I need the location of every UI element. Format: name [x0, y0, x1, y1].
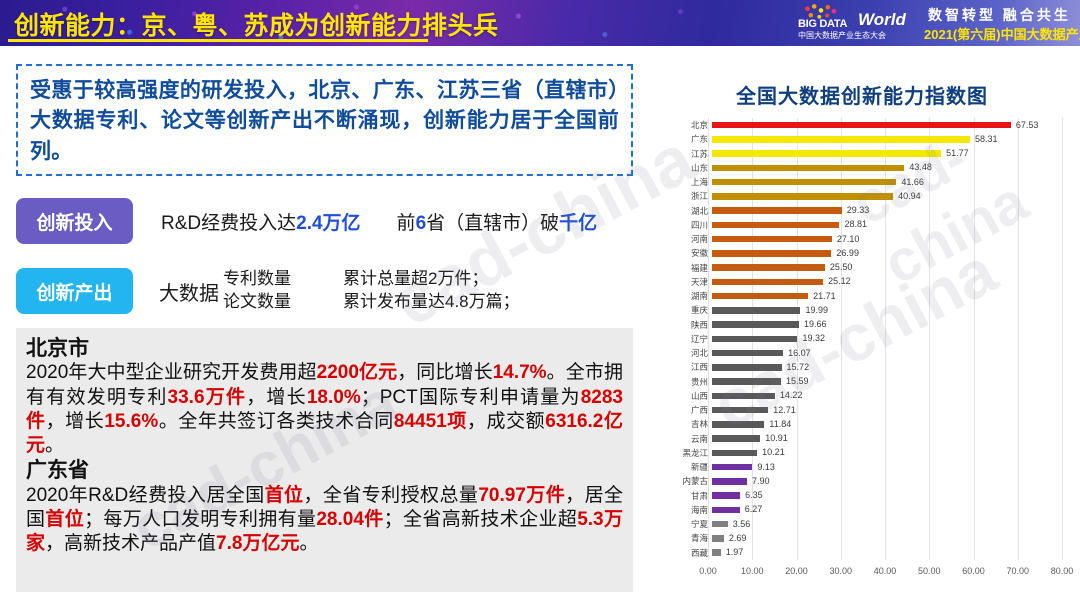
detail-text: ，增长	[46, 411, 105, 432]
app-header: 创新能力：京、粤、苏成为创新能力排头兵 BIG DATA World 中国大数据…	[0, 0, 1080, 46]
chart-bar-value: 15.72	[787, 362, 810, 372]
chart-bar-row: 福建25.50	[672, 261, 1062, 275]
chart-bar-row: 宁夏3.56	[672, 517, 1062, 531]
chart-bar-row: 海南6.27	[672, 503, 1062, 517]
chart-bar	[712, 293, 808, 299]
chart-plot-area: 北京67.53广东58.31江苏51.77山东43.48上海41.66浙江40.…	[672, 118, 1062, 560]
chart-bar	[712, 364, 782, 370]
logo-chinese-text: 中国大数据产业生态大会	[798, 30, 886, 41]
chart-bar	[712, 336, 797, 342]
detail-highlight: 18.0%	[307, 387, 361, 408]
chart-bar-track: 26.99	[712, 246, 1062, 260]
chart-bar	[712, 521, 728, 527]
detail-text: 。全年共签订各类技术合同	[158, 411, 394, 432]
detail-highlight: 28.04件	[316, 509, 383, 530]
chart-category-label: 贵州	[672, 376, 712, 388]
chart-bar-track: 27.10	[712, 232, 1062, 246]
chart-bar	[712, 507, 740, 513]
chart-bar-value: 1.97	[726, 547, 744, 557]
chart-bar-value: 67.53	[1016, 120, 1039, 130]
chart-bar-value: 10.21	[762, 447, 785, 457]
chart-bar-value: 26.99	[836, 248, 859, 258]
chart-category-label: 河北	[672, 347, 712, 359]
chart-x-tick-label: 10.00	[741, 566, 764, 576]
detail-highlight: 2200亿元	[317, 362, 398, 383]
chart-bar-row: 吉林11.84	[672, 417, 1062, 431]
title-underline	[8, 39, 428, 42]
badge-innovation-output: 创新产出	[16, 268, 133, 314]
chart-category-label: 湖北	[672, 205, 712, 217]
chart-category-label: 北京	[672, 119, 712, 131]
chart-bar-row: 浙江40.94	[672, 189, 1062, 203]
detail-text: ，增长	[246, 387, 307, 408]
chart-bar-track: 40.94	[712, 189, 1062, 203]
chart-gridline	[1062, 118, 1063, 560]
chart-bar-row: 山东43.48	[672, 161, 1062, 175]
top-provinces-value: 千亿	[559, 213, 597, 234]
investment-amount-text: R&D经费投入达2.4万亿	[161, 208, 361, 235]
chart-bar-row: 江苏51.77	[672, 147, 1062, 161]
output-value-list: 累计总量超2万件； 累计发布量达4.8万篇；	[343, 268, 520, 314]
chart-bar	[712, 535, 724, 541]
chart-category-label: 天津	[672, 276, 712, 288]
chart-bar	[712, 122, 1011, 128]
chart-x-tick-label: 20.00	[785, 566, 808, 576]
chart-category-label: 西藏	[672, 547, 712, 559]
chart-bar-track: 58.31	[712, 132, 1062, 146]
chart-bar-row: 西藏1.97	[672, 546, 1062, 560]
chart-bar-track: 41.66	[712, 175, 1062, 189]
chart-bar	[712, 207, 842, 213]
detail-highlight: 首位	[45, 509, 84, 530]
chart-category-label: 云南	[672, 433, 712, 445]
chart-bar	[712, 179, 896, 185]
chart-bar-row: 天津25.12	[672, 275, 1062, 289]
chart-x-axis: 0.0010.0020.0030.0040.0050.0060.0070.008…	[708, 560, 1062, 580]
beijing-description: 2020年大中型企业研究开发费用超2200亿元，同比增长14.7%。全市拥有有效…	[26, 361, 623, 458]
detail-text: ，同比增长	[397, 362, 493, 383]
chart-category-label: 辽宁	[672, 333, 712, 345]
detail-highlight: 首位	[265, 485, 304, 506]
chart-category-label: 青海	[672, 532, 712, 544]
chart-bar	[712, 464, 752, 470]
chart-bar-track: 6.27	[712, 503, 1062, 517]
chart-bar-track: 12.71	[712, 403, 1062, 417]
chart-bar-row: 广东58.31	[672, 132, 1062, 146]
chart-bar-value: 7.90	[752, 476, 770, 486]
chart-category-label: 宁夏	[672, 518, 712, 530]
detail-highlight: 14.7%	[493, 362, 547, 383]
chart-bar-row: 北京67.53	[672, 118, 1062, 132]
chart-category-label: 内蒙古	[672, 475, 712, 487]
chart-bar	[712, 236, 832, 242]
detail-highlight: 70.97万件	[478, 485, 565, 506]
chart-bar	[712, 307, 800, 313]
chart-category-label: 安徽	[672, 247, 712, 259]
chart-bar-value: 29.33	[847, 205, 870, 215]
slogan-primary: 数智转型 融合共生	[928, 5, 1071, 25]
chart-bar	[712, 264, 825, 270]
chart-bar-row: 河南27.10	[672, 232, 1062, 246]
chart-bar-row: 江西15.72	[672, 360, 1062, 374]
page-title: 创新能力：京、粤、苏成为创新能力排头兵	[14, 6, 499, 42]
chart-bar-row: 辽宁19.32	[672, 332, 1062, 346]
detail-text: ；PCT国际专利申请量为	[361, 387, 581, 408]
bigdata-world-logo: BIG DATA World 中国大数据产业生态大会	[796, 2, 916, 44]
output-value-patents: 累计总量超2万件；	[343, 268, 520, 291]
chart-bar	[712, 321, 799, 327]
chart-x-tick-label: 80.00	[1051, 566, 1074, 576]
chart-category-label: 湖南	[672, 290, 712, 302]
chart-x-tick-label: 70.00	[1006, 566, 1029, 576]
chart-title: 全国大数据创新能力指数图	[652, 80, 1072, 109]
output-metric-papers: 论文数量	[223, 291, 291, 314]
chart-bar-track: 14.22	[712, 389, 1062, 403]
chart-bar-track: 10.91	[712, 432, 1062, 446]
chart-x-tick-label: 40.00	[874, 566, 897, 576]
chart-bar-row: 山西14.22	[672, 389, 1062, 403]
chart-category-label: 福建	[672, 262, 712, 274]
chart-bar	[712, 450, 757, 456]
investment-label: R&D经费投入达	[161, 213, 296, 234]
chart-bar	[712, 279, 823, 285]
province-detail-panel: 北京市 2020年大中型企业研究开发费用超2200亿元，同比增长14.7%。全市…	[16, 328, 633, 592]
chart-bar-track: 3.56	[712, 517, 1062, 531]
chart-bar-value: 51.77	[946, 148, 969, 158]
chart-bar-value: 28.81	[844, 219, 867, 229]
detail-text: ，全省专利授权总量	[303, 485, 478, 506]
chart-bar-value: 3.56	[733, 519, 751, 529]
chart-bar-value: 40.94	[898, 191, 921, 201]
chart-category-label: 河南	[672, 233, 712, 245]
chart-bar-value: 16.07	[788, 348, 811, 358]
chart-bar	[712, 492, 740, 498]
chart-bar-row: 云南10.91	[672, 432, 1062, 446]
chart-bar	[712, 478, 747, 484]
chart-bar-row: 重庆19.99	[672, 303, 1062, 317]
detail-highlight: 84451项	[394, 411, 467, 432]
chart-bar	[712, 165, 904, 171]
chart-bar-value: 9.13	[757, 462, 775, 472]
chart-category-label: 浙江	[672, 190, 712, 202]
chart-bar-value: 6.35	[745, 490, 763, 500]
chart-panel: 全国大数据创新能力指数图 北京67.53广东58.31江苏51.77山东43.4…	[652, 60, 1072, 600]
chart-bar-row: 四川28.81	[672, 218, 1062, 232]
chart-bar-row: 湖北29.33	[672, 204, 1062, 218]
callout-text: 受惠于较高强度的研发投入，北京、广东、江苏三省（直辖市）大数据专利、论文等创新产…	[30, 76, 619, 167]
detail-text: ，高新技术产品产值	[45, 533, 216, 554]
chart-category-label: 重庆	[672, 304, 712, 316]
chart-bar	[712, 393, 775, 399]
chart-bar-track: 15.72	[712, 360, 1062, 374]
slogan-secondary: 2021(第六届)中国大数据产业生态大会	[924, 24, 1080, 43]
chart-bar-row: 广西12.71	[672, 403, 1062, 417]
chart-bar-value: 27.10	[837, 234, 860, 244]
callout-box: 受惠于较高强度的研发投入，北京、广东、江苏三省（直辖市）大数据专利、论文等创新产…	[16, 64, 633, 176]
chart-category-label: 新疆	[672, 461, 712, 473]
chart-bar-value: 12.71	[773, 405, 796, 415]
chart-bar	[712, 421, 764, 427]
chart-category-label: 黑龙江	[672, 447, 712, 459]
detail-highlight: 15.6%	[104, 411, 158, 432]
beijing-heading: 北京市	[26, 336, 623, 361]
output-value-papers: 累计发布量达4.8万篇；	[343, 291, 520, 314]
chart-bar	[712, 193, 893, 199]
top-provinces-count: 6	[416, 213, 427, 234]
chart-bar	[712, 378, 781, 384]
chart-bar-track: 15.59	[712, 375, 1062, 389]
chart-bar-value: 21.71	[813, 291, 836, 301]
chart-bar-value: 43.48	[909, 162, 932, 172]
chart-bar-track: 16.07	[712, 346, 1062, 360]
investment-value: 2.4万亿	[296, 213, 360, 234]
top-provinces-prefix: 前	[397, 213, 416, 234]
chart-bar	[712, 222, 839, 228]
chart-bar	[712, 250, 831, 256]
top-provinces-text: 前6省（直辖市）破千亿	[397, 208, 598, 235]
chart-bar-track: 19.99	[712, 303, 1062, 317]
output-prefix-label: 大数据	[159, 277, 219, 306]
chart-bar	[712, 549, 721, 555]
chart-bar-row: 陕西19.66	[672, 318, 1062, 332]
chart-bar-row: 上海41.66	[672, 175, 1062, 189]
logo-world-text: World	[858, 10, 906, 30]
chart-category-label: 山西	[672, 390, 712, 402]
chart-bar-value: 19.66	[804, 319, 827, 329]
chart-bar-row: 内蒙古7.90	[672, 474, 1062, 488]
detail-text: 。	[299, 533, 318, 554]
output-metric-patents: 专利数量	[223, 268, 291, 291]
guangdong-description: 2020年R&D经费投入居全国首位，全省专利授权总量70.97万件，居全国首位；…	[26, 484, 623, 557]
chart-bar-track: 10.21	[712, 446, 1062, 460]
chart-x-tick-label: 30.00	[829, 566, 852, 576]
chart-bar-value: 10.91	[765, 433, 788, 443]
chart-bar-track: 11.84	[712, 417, 1062, 431]
chart-bar-row: 河北16.07	[672, 346, 1062, 360]
chart-bar-value: 25.50	[830, 262, 853, 272]
chart-bar	[712, 435, 760, 441]
chart-bar-track: 1.97	[712, 546, 1062, 560]
chart-bar-row: 安徽26.99	[672, 246, 1062, 260]
detail-highlight: 7.8万亿元	[216, 533, 299, 554]
chart-bar-track: 2.69	[712, 531, 1062, 545]
chart-category-label: 江苏	[672, 148, 712, 160]
detail-text: ；每万人口发明专利拥有量	[84, 509, 316, 530]
chart-bar-row: 湖南21.71	[672, 289, 1062, 303]
chart-bar-track: 25.50	[712, 261, 1062, 275]
chart-bar-value: 11.84	[769, 419, 791, 429]
chart-bar-track: 6.35	[712, 489, 1062, 503]
guangdong-heading: 广东省	[26, 458, 623, 483]
chart-bar-track: 43.48	[712, 161, 1062, 175]
chart-category-label: 江西	[672, 361, 712, 373]
detail-text: ；全省高新技术企业超	[384, 509, 578, 530]
chart-bar-value: 41.66	[901, 177, 924, 187]
chart-x-tick-label: 50.00	[918, 566, 941, 576]
chart-bar-track: 28.81	[712, 218, 1062, 232]
chart-bar-track: 19.32	[712, 332, 1062, 346]
chart-bar-track: 67.53	[712, 118, 1062, 132]
chart-bar-value: 58.31	[975, 134, 998, 144]
chart-bar	[712, 136, 970, 142]
chart-bar-track: 19.66	[712, 318, 1062, 332]
chart-bar	[712, 150, 941, 156]
chart-x-tick-label: 60.00	[962, 566, 985, 576]
chart-bar-track: 29.33	[712, 204, 1062, 218]
chart-category-label: 陕西	[672, 319, 712, 331]
detail-highlight: 33.6万件	[168, 387, 247, 408]
chart-bar-track: 9.13	[712, 460, 1062, 474]
output-metric-list: 专利数量 论文数量	[223, 268, 291, 314]
chart-bar-track: 51.77	[712, 147, 1062, 161]
chart-bar	[712, 350, 783, 356]
chart-bar-value: 6.27	[745, 504, 763, 514]
top-provinces-mid: 省（直辖市）破	[426, 213, 559, 234]
logo-bigdata-text: BIG DATA	[798, 18, 847, 30]
chart-category-label: 广东	[672, 133, 712, 145]
chart-bar-value: 14.22	[780, 390, 803, 400]
chart-category-label: 海南	[672, 504, 712, 516]
detail-text: 。	[45, 435, 64, 456]
chart-category-label: 甘肃	[672, 490, 712, 502]
chart-category-label: 吉林	[672, 418, 712, 430]
chart-bar-value: 19.32	[802, 333, 825, 343]
chart-bar-track: 7.90	[712, 474, 1062, 488]
detail-text: 2020年大中型企业研究开发费用超	[26, 362, 317, 383]
chart-bar-value: 19.99	[805, 305, 828, 315]
badge-innovation-investment: 创新投入	[16, 198, 133, 244]
chart-category-label: 四川	[672, 219, 712, 231]
innovation-investment-row: 创新投入 R&D经费投入达2.4万亿 前6省（直辖市）破千亿	[16, 198, 597, 244]
detail-text: ，成交额	[467, 411, 545, 432]
chart-bar-value: 15.59	[786, 376, 809, 386]
chart-bar-value: 25.12	[828, 276, 851, 286]
chart-category-label: 上海	[672, 176, 712, 188]
chart-bar-row: 新疆9.13	[672, 460, 1062, 474]
innovation-output-row: 创新产出 大数据 专利数量 论文数量 累计总量超2万件； 累计发布量达4.8万篇…	[16, 268, 520, 314]
detail-text: 2020年R&D经费投入居全国	[26, 485, 265, 506]
chart-bar-row: 青海2.69	[672, 531, 1062, 545]
chart-bar	[712, 407, 768, 413]
chart-bar-track: 21.71	[712, 289, 1062, 303]
chart-bar-row: 甘肃6.35	[672, 489, 1062, 503]
chart-bar-track: 25.12	[712, 275, 1062, 289]
chart-bar-value: 2.69	[729, 533, 747, 543]
chart-category-label: 山东	[672, 162, 712, 174]
chart-bar-row: 贵州15.59	[672, 375, 1062, 389]
chart-category-label: 广西	[672, 404, 712, 416]
chart-x-tick-label: 0.00	[699, 566, 717, 576]
chart-bar-row: 黑龙江10.21	[672, 446, 1062, 460]
